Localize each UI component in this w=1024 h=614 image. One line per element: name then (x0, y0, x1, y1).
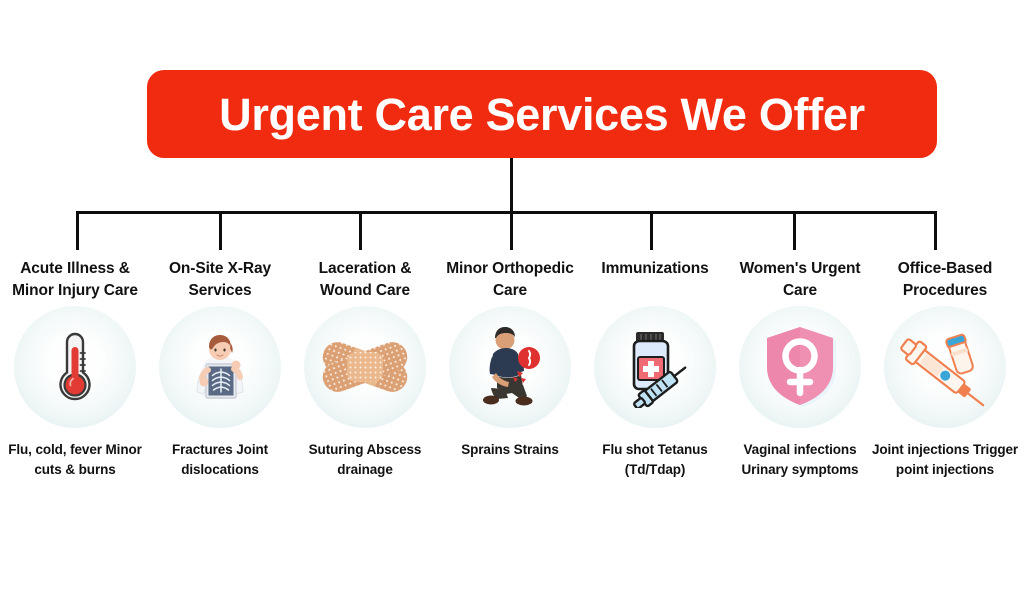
connector-drop-1 (76, 211, 79, 250)
service-column-xray[interactable]: On-Site X-Ray Services (150, 258, 290, 479)
service-heading: Minor Orthopedic Care (436, 258, 584, 302)
service-caption: Sprains Strains (434, 440, 586, 460)
service-caption: Flu, cold, fever Minor cuts & burns (0, 440, 151, 479)
service-caption: Joint injections Trigger point injection… (869, 440, 1021, 479)
knee-pain-person-icon (449, 306, 571, 428)
connector-drop-5 (650, 211, 653, 250)
connector-stem (510, 158, 513, 213)
thermometer-icon (14, 306, 136, 428)
vaccine-vial-syringe-icon (594, 306, 716, 428)
service-heading: Office-Based Procedures (871, 258, 1019, 302)
connector-drop-4 (510, 211, 513, 250)
service-column-office-based[interactable]: Office-Based Procedures (875, 258, 1015, 479)
connector-drop-3 (359, 211, 362, 250)
service-column-acute-illness[interactable]: Acute Illness & Minor Injury Care Flu, c… (5, 258, 145, 479)
services-row: Acute Illness & Minor Injury Care Flu, c… (0, 258, 1024, 538)
service-column-immunizations[interactable]: Immunizations (585, 258, 725, 479)
syringe-vial-icon (884, 306, 1006, 428)
service-caption: Fractures Joint dislocations (144, 440, 296, 479)
service-caption: Vaginal infections Urinary symptoms (724, 440, 876, 479)
service-column-womens[interactable]: Women's Urgent Care Vaginal infections U… (730, 258, 870, 479)
connector-drop-6 (793, 211, 796, 250)
female-shield-icon (739, 306, 861, 428)
crossed-bandages-icon (304, 306, 426, 428)
connector-rail (76, 211, 937, 214)
service-column-orthopedic[interactable]: Minor Orthopedic Care (440, 258, 580, 460)
service-heading: Laceration & Wound Care (291, 258, 439, 302)
service-heading: On-Site X-Ray Services (146, 258, 294, 302)
service-caption: Suturing Abscess drainage (289, 440, 441, 479)
title-banner: Urgent Care Services We Offer (147, 70, 937, 158)
service-column-laceration[interactable]: Laceration & Wound Care (295, 258, 435, 479)
infographic-root: Urgent Care Services We Offer Acute Illn… (0, 0, 1024, 614)
service-heading: Women's Urgent Care (726, 258, 874, 302)
service-heading: Acute Illness & Minor Injury Care (1, 258, 149, 302)
service-heading: Immunizations (581, 258, 729, 302)
page-title: Urgent Care Services We Offer (219, 92, 865, 137)
connector-drop-7 (934, 211, 937, 250)
service-caption: Flu shot Tetanus (Td/Tdap) (579, 440, 731, 479)
connector-drop-2 (219, 211, 222, 250)
xray-person-icon (159, 306, 281, 428)
